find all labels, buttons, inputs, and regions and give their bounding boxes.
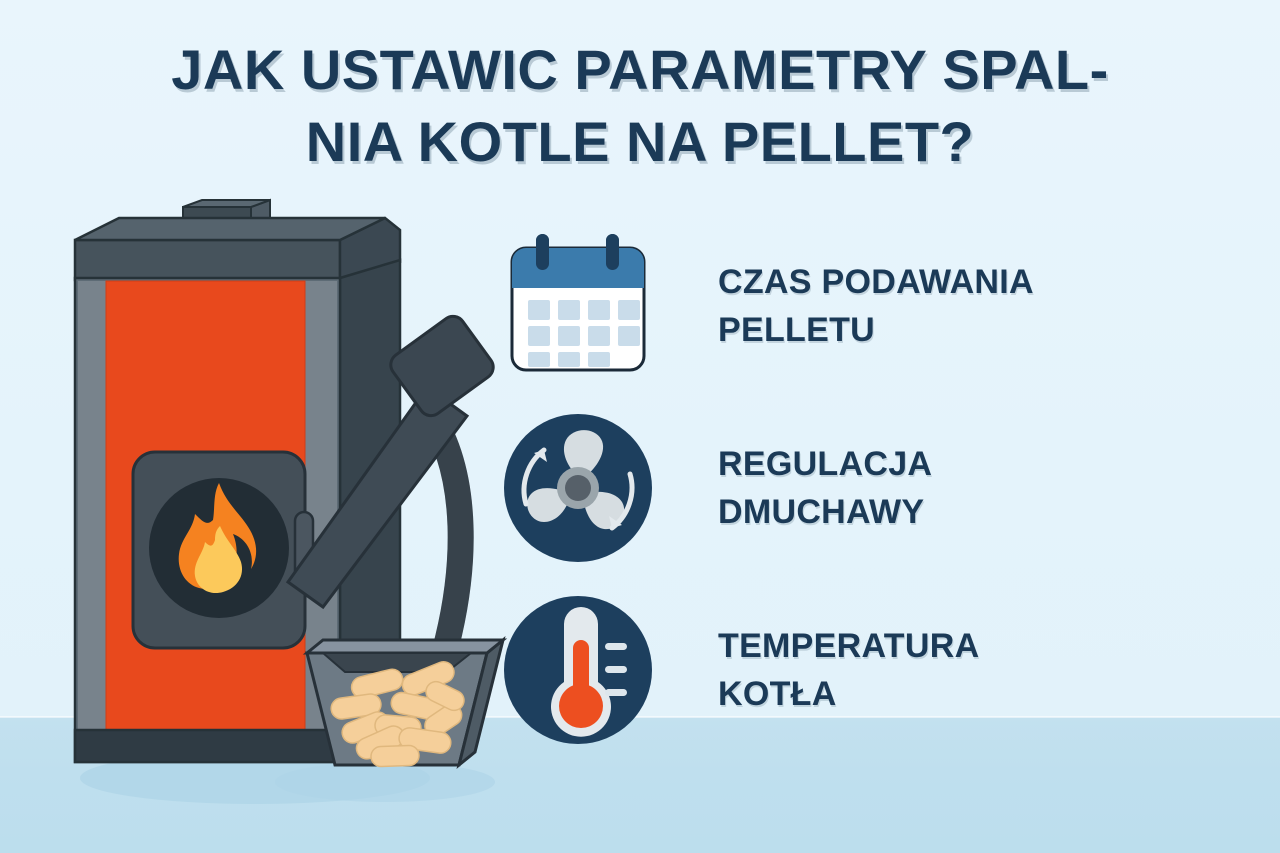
feature-label-line-2: PELLETU: [718, 306, 1158, 354]
feature-label-line-1: CZAS PODAWANIA: [718, 258, 1158, 306]
feature-row-boiler-temperature[interactable]: TEMPERATURA KOTŁA: [498, 590, 1158, 750]
pellet-boiler-illustration: [55, 190, 525, 810]
feature-label-line-1: REGULACJA: [718, 440, 1158, 488]
feature-label-blower-adjustment: REGULACJA DMUCHAWY: [666, 440, 1158, 536]
feature-label-pellet-feed-time: CZAS PODAWANIA PELLETU: [666, 258, 1158, 354]
feeder-motor: [386, 312, 498, 421]
feature-icon-slot: [498, 408, 666, 568]
fan-icon: [498, 408, 666, 568]
feature-icon-slot: [498, 590, 666, 750]
feature-label-line-2: KOTŁA: [718, 670, 1158, 718]
feature-row-blower-adjustment[interactable]: REGULACJA DMUCHAWY: [498, 408, 1158, 568]
thermometer-bulb: [559, 684, 603, 728]
page-title-line-2: NIA KOTLE NA PELLET?: [0, 106, 1280, 178]
hopper-ground-shadow: [275, 762, 495, 802]
thermometer-icon: [498, 590, 666, 750]
feature-label-line-1: TEMPERATURA: [718, 622, 1158, 670]
feature-list: CZAS PODAWANIA PELLETU: [498, 226, 1158, 750]
page-title: JAK USTAWIC PARAMETRY SPAL- NIA KOTLE NA…: [0, 34, 1280, 178]
feature-label-boiler-temperature: TEMPERATURA KOTŁA: [666, 622, 1158, 718]
feature-label-line-2: DMUCHAWY: [718, 488, 1158, 536]
calendar-icon: [498, 226, 666, 386]
infographic-canvas: JAK USTAWIC PARAMETRY SPAL- NIA KOTLE NA…: [0, 0, 1280, 853]
page-title-line-1: JAK USTAWIC PARAMETRY SPAL-: [0, 34, 1280, 106]
feature-icon-slot: [498, 226, 666, 386]
pellet-hopper: [307, 640, 503, 767]
boiler-top-cap: [75, 218, 400, 280]
feature-row-pellet-feed-time[interactable]: CZAS PODAWANIA PELLETU: [498, 226, 1158, 386]
